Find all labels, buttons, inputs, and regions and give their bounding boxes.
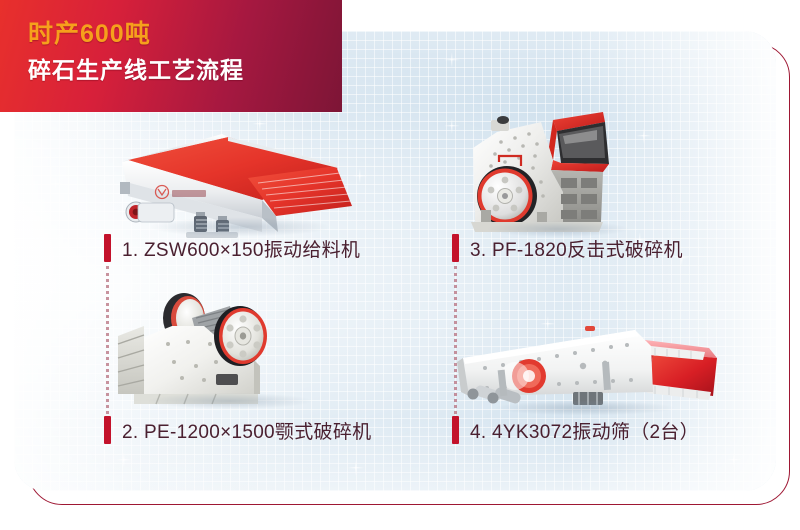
equipment-cell-4 bbox=[455, 300, 735, 420]
label-marker-bar bbox=[104, 416, 111, 444]
equipment-label-text: 1. ZSW600×150振动给料机 bbox=[122, 235, 360, 262]
equipment-cell-2 bbox=[112, 282, 392, 410]
equipment-label-3: 3. PF-1820反击式破碎机 bbox=[452, 234, 683, 262]
equipment-cell-3 bbox=[445, 100, 695, 240]
title-line-secondary: 碎石生产线工艺流程 bbox=[28, 54, 342, 86]
equipment-label-4: 4. 4YK3072振动筛（2台） bbox=[452, 416, 699, 444]
label-marker-bar bbox=[452, 416, 459, 444]
equipment-label-2: 2. PE-1200×1500颚式破碎机 bbox=[104, 416, 371, 444]
title-banner: 时产600吨 碎石生产线工艺流程 bbox=[0, 0, 342, 112]
label-marker-bar bbox=[104, 234, 111, 262]
equipment-label-text: 3. PF-1820反击式破碎机 bbox=[470, 235, 683, 262]
label-marker-bar bbox=[452, 234, 459, 262]
photo-shadow bbox=[120, 390, 340, 412]
connector-dotted-line-left bbox=[106, 266, 109, 414]
title-line-primary: 时产600吨 bbox=[28, 18, 342, 50]
equipment-label-1: 1. ZSW600×150振动给料机 bbox=[104, 234, 360, 262]
equipment-label-text: 2. PE-1200×1500颚式破碎机 bbox=[122, 417, 371, 444]
equipment-label-text: 4. 4YK3072振动筛（2台） bbox=[470, 417, 699, 444]
photo-shadow bbox=[465, 398, 705, 418]
equipment-cell-1 bbox=[100, 120, 400, 245]
